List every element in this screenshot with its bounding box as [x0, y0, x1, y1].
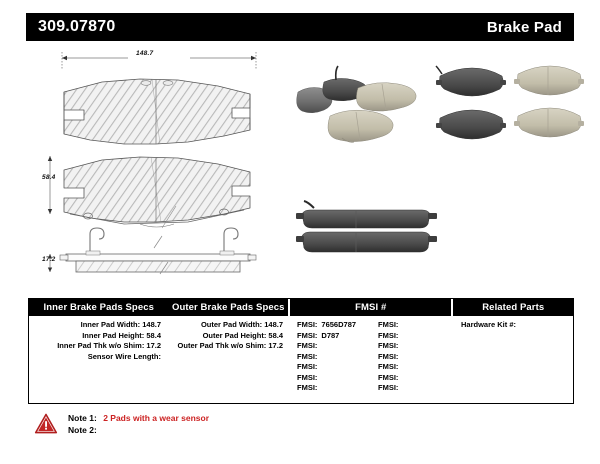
- spec-table: Inner Brake Pads Specs Outer Brake Pads …: [28, 298, 574, 404]
- photo-pads-grid: [434, 58, 584, 158]
- fmsi-value: 7656D787: [321, 320, 356, 329]
- warning-triangle-icon: [34, 412, 58, 436]
- fmsi-row: FMSI:: [297, 352, 372, 363]
- fmsi-label: FMSI:: [297, 362, 317, 371]
- fmsi-label: FMSI:: [297, 320, 317, 329]
- fmsi-label: FMSI:: [378, 341, 398, 350]
- fmsi-row: FMSI:: [378, 362, 453, 373]
- product-photos: [292, 50, 584, 290]
- pad-drawing-svg: [28, 48, 280, 288]
- fmsi-row: FMSI:: [378, 373, 453, 384]
- photo-pads-angled: [294, 58, 424, 158]
- fmsi-label: FMSI:: [378, 383, 398, 392]
- pad-edge-view: [48, 228, 256, 274]
- spec-row: Outer Pad Width: 148.7: [169, 320, 291, 331]
- fmsi-subcolumn-right: FMSI: FMSI: FMSI: FMSI: FMSI: FMSI: FMSI…: [372, 320, 453, 403]
- spec-table-body: Inner Pad Width: 148.7 Inner Pad Height:…: [29, 316, 573, 403]
- photo-pads-edge: [292, 200, 442, 270]
- fmsi-row: FMSI:: [378, 320, 453, 331]
- fmsi-value: D787: [321, 331, 339, 340]
- notes-text-block: Note 1: 2 Pads with a wear sensor Note 2…: [68, 411, 209, 436]
- fmsi-label: FMSI:: [297, 352, 317, 361]
- fmsi-label: FMSI:: [378, 331, 398, 340]
- related-part-row: Hardware Kit #:: [453, 320, 573, 331]
- outer-specs-column: Outer Pad Width: 148.7 Outer Pad Height:…: [169, 316, 291, 403]
- fmsi-row: FMSI:: [297, 341, 372, 352]
- page-title: Brake Pad: [487, 19, 562, 36]
- fmsi-label: FMSI:: [378, 320, 398, 329]
- part-number: 309.07870: [38, 18, 115, 36]
- fmsi-row: FMSI:D787: [297, 331, 372, 342]
- fmsi-label: FMSI:: [378, 373, 398, 382]
- fmsi-label: FMSI:: [378, 362, 398, 371]
- header-bar: 309.07870 Brake Pad: [26, 13, 574, 41]
- column-header-related: Related Parts: [453, 299, 573, 316]
- fmsi-label: FMSI:: [297, 383, 317, 392]
- technical-drawings: 148.7 58.4 17.2: [28, 48, 280, 288]
- spec-row: Sensor Wire Length:: [29, 352, 169, 363]
- note-1-label: Note 1:: [68, 413, 97, 423]
- spec-row: Inner Pad Height: 58.4: [29, 331, 169, 342]
- spec-row: Inner Pad Thk w/o Shim: 17.2: [29, 341, 169, 352]
- fmsi-row: FMSI:: [297, 362, 372, 373]
- note-2-row: Note 2:: [68, 424, 209, 436]
- related-parts-column: Hardware Kit #:: [453, 316, 573, 403]
- spec-row: Inner Pad Width: 148.7: [29, 320, 169, 331]
- fmsi-subcolumn-left: FMSI:7656D787 FMSI:D787 FMSI: FMSI: FMSI…: [291, 320, 372, 403]
- fmsi-label: FMSI:: [297, 331, 317, 340]
- width-dimension-line: [62, 52, 256, 70]
- spec-row: Outer Pad Thk w/o Shim: 17.2: [169, 341, 291, 352]
- inner-specs-column: Inner Pad Width: 148.7 Inner Pad Height:…: [29, 316, 169, 403]
- column-header-inner: Inner Brake Pads Specs: [29, 299, 168, 316]
- note-2-label: Note 2:: [68, 425, 97, 435]
- column-header-fmsi: FMSI #: [290, 299, 451, 316]
- note-1-row: Note 1: 2 Pads with a wear sensor: [68, 412, 209, 424]
- fmsi-column: FMSI:7656D787 FMSI:D787 FMSI: FMSI: FMSI…: [291, 316, 453, 403]
- fmsi-row: FMSI:: [378, 383, 453, 394]
- fmsi-row: FMSI:: [378, 352, 453, 363]
- notes-section: Note 1: 2 Pads with a wear sensor Note 2…: [34, 411, 334, 436]
- pad-second-view: [48, 156, 250, 228]
- fmsi-row: FMSI:7656D787: [297, 320, 372, 331]
- fmsi-label: FMSI:: [297, 373, 317, 382]
- spec-table-header-row: Inner Brake Pads Specs Outer Brake Pads …: [29, 299, 573, 316]
- note-1-value: 2 Pads with a wear sensor: [103, 413, 209, 423]
- fmsi-row: FMSI:: [378, 341, 453, 352]
- pad-front-view: [64, 79, 250, 144]
- fmsi-row: FMSI:: [378, 331, 453, 342]
- fmsi-label: FMSI:: [297, 341, 317, 350]
- spec-row: Outer Pad Height: 58.4: [169, 331, 291, 342]
- column-header-outer: Outer Brake Pads Specs: [168, 299, 288, 316]
- fmsi-row: FMSI:: [297, 383, 372, 394]
- fmsi-label: FMSI:: [378, 352, 398, 361]
- fmsi-row: FMSI:: [297, 373, 372, 384]
